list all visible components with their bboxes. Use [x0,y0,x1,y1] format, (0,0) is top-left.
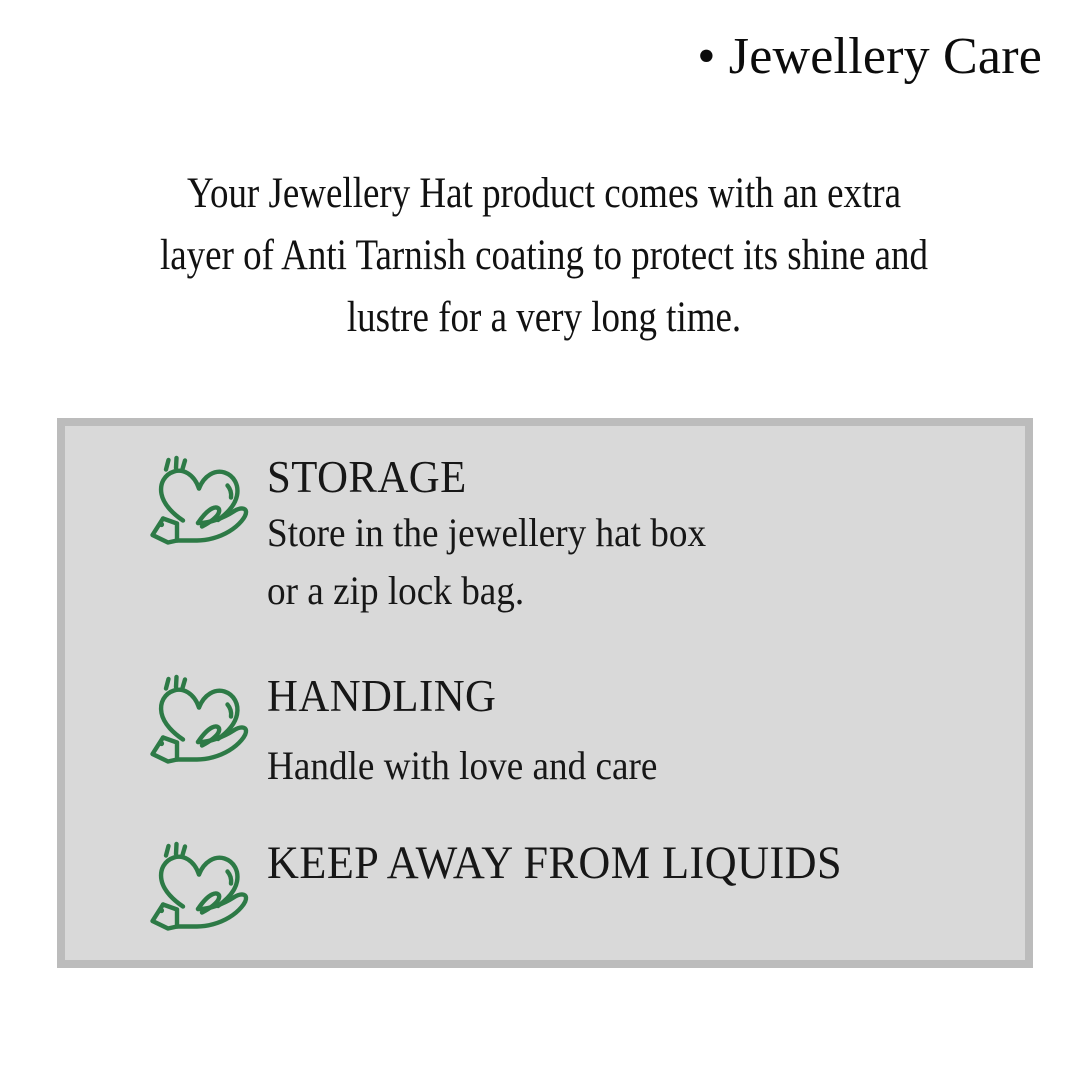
care-item-text: HANDLING Handle with love and care [267,667,687,795]
jewellery-care-panel: STORAGE Store in the jewellery hat box o… [57,418,1033,968]
care-item-description-line: Handle with love and care [267,737,657,795]
page-title: • Jewellery Care [697,28,1042,85]
intro-paragraph: Your Jewellery Hat product comes with an… [150,163,938,349]
hand-holding-heart-icon [147,838,251,934]
care-item-handling: HANDLING Handle with love and care [147,667,687,795]
care-item-description-line: Store in the jewellery hat box [267,504,706,562]
care-item-description: Store in the jewellery hat box or a zip … [267,504,706,620]
care-item-text: STORAGE Store in the jewellery hat box o… [267,448,739,620]
care-item-description: Handle with love and care [267,737,657,795]
care-item-text: KEEP AWAY FROM LIQUIDS [267,834,879,888]
hand-holding-heart-icon [147,671,251,767]
care-item-heading: HANDLING [267,671,666,721]
care-item-heading: STORAGE [267,452,715,502]
care-item-description-line: or a zip lock bag. [267,562,706,620]
hand-holding-heart-icon [147,452,251,548]
care-item-heading: KEEP AWAY FROM LIQUIDS [267,838,842,888]
care-instruction-list: STORAGE Store in the jewellery hat box o… [65,426,1025,960]
care-item-keep-away-from-liquids: KEEP AWAY FROM LIQUIDS [147,834,879,934]
care-item-storage: STORAGE Store in the jewellery hat box o… [147,448,739,620]
